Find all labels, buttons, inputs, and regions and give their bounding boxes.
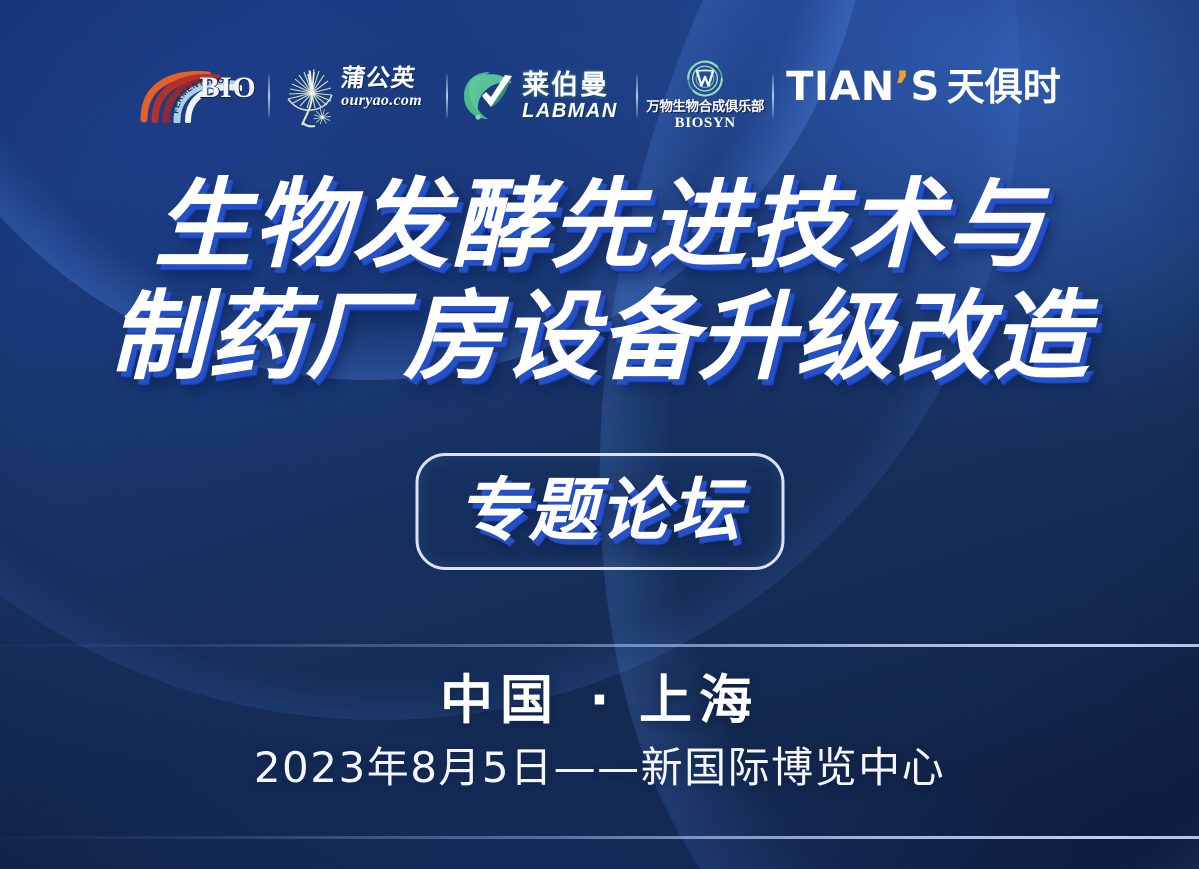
sponsor-logo-bar: FERMENTATION BIO: [0, 58, 1199, 134]
forum-type-label: 专题论坛: [458, 477, 742, 546]
vertical-divider-icon: [446, 74, 448, 118]
w-monogram-swirl-icon: [683, 60, 727, 99]
labman-en-name: LABMAN: [522, 101, 618, 121]
tians-cn-name: 天俱时: [947, 68, 1061, 106]
event-location-block: 中国 · 上海 2023年8月5日——新国际博览中心: [0, 673, 1199, 790]
horizontal-divider-bottom: [0, 836, 1199, 839]
dandelion-icon: [282, 63, 338, 129]
logo-labman: 莱伯曼 LABMAN: [460, 61, 624, 131]
logo-biosyn: 万物生物合成俱乐部 BIOSYN: [650, 61, 760, 131]
bio-wordmark: BIO: [200, 71, 257, 105]
vertical-divider-icon: [636, 74, 638, 118]
event-country: 中国: [440, 670, 560, 731]
forum-type-badge: 专题论坛: [415, 453, 784, 570]
leaf-check-circle-icon: [460, 67, 518, 125]
horizontal-divider-top: [0, 644, 1199, 647]
logo-tians: TIAN ’ S 天俱时: [786, 61, 1061, 131]
logo-ouryao-dandelion: 蒲公英 ouryao.com: [282, 61, 434, 131]
page-title: 生物发酵先进技术与 制药厂房设备升级改造: [0, 176, 1199, 385]
logo-bio-fermentation: FERMENTATION BIO: [138, 61, 256, 131]
conference-banner: FERMENTATION BIO: [0, 0, 1199, 869]
tians-en-name: TIAN: [786, 67, 895, 107]
event-date-venue: 2023年8月5日——新国际博览中心: [0, 746, 1199, 790]
tians-en-suffix: S: [910, 67, 939, 107]
headline-line-2: 制药厂房设备升级改造: [0, 288, 1199, 385]
labman-cn-name: 莱伯曼: [522, 72, 618, 99]
location-separator: ·: [585, 670, 613, 731]
event-city: 上海: [639, 670, 759, 731]
vertical-divider-icon: [772, 74, 774, 118]
tians-apostrophe: ’: [895, 67, 911, 107]
ouryao-domain: ouryao.com: [341, 93, 433, 109]
vertical-divider-icon: [268, 74, 270, 118]
ouryao-cn-name: 蒲公英: [340, 66, 435, 90]
biosyn-en-name: BIOSYN: [675, 115, 736, 132]
headline-line-1: 生物发酵先进技术与: [0, 176, 1199, 273]
biosyn-cn-name: 万物生物合成俱乐部: [646, 100, 764, 115]
event-city-line: 中国 · 上海: [0, 673, 1199, 729]
